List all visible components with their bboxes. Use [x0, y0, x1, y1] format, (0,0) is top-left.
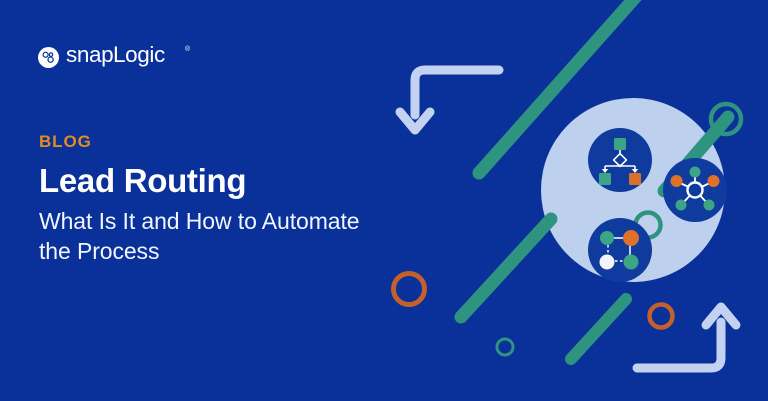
svg-text:snap: snap [66, 42, 113, 67]
page-subtitle-line-1: What Is It and How to Automate [39, 208, 359, 234]
content-type-eyebrow: BLOG [39, 133, 469, 152]
hero-text-block: BLOG Lead Routing What Is It and How to … [39, 133, 469, 267]
svg-text:®: ® [185, 45, 191, 53]
snaplogic-logo[interactable]: snap Logic ® [38, 42, 210, 72]
teal-bar-lower-right [571, 299, 626, 359]
snaplogic-wordmark: snap Logic ® [66, 42, 210, 72]
orange-ring-left [394, 274, 425, 305]
green-ring-small-bottom [497, 339, 513, 355]
blog-hero-banner: snap Logic ® BLOG Lead Routing What Is I… [0, 0, 768, 401]
page-subtitle-line-2: the Process [39, 238, 159, 264]
page-title: Lead Routing [39, 163, 469, 200]
page-subtitle: What Is It and How to Automate the Proce… [39, 206, 469, 268]
orange-ring-bottom-right [650, 305, 673, 328]
snaplogic-circle-mark [38, 47, 59, 68]
arrow-up-right [637, 307, 736, 368]
hub-network-icon-circle [663, 158, 727, 222]
node-graph-icon-circle [588, 218, 652, 282]
teal-bar-lower-left [461, 219, 551, 317]
svg-text:Logic: Logic [113, 42, 165, 67]
arrow-down-left [400, 70, 499, 130]
flow-branch-icon-circle [588, 128, 652, 192]
